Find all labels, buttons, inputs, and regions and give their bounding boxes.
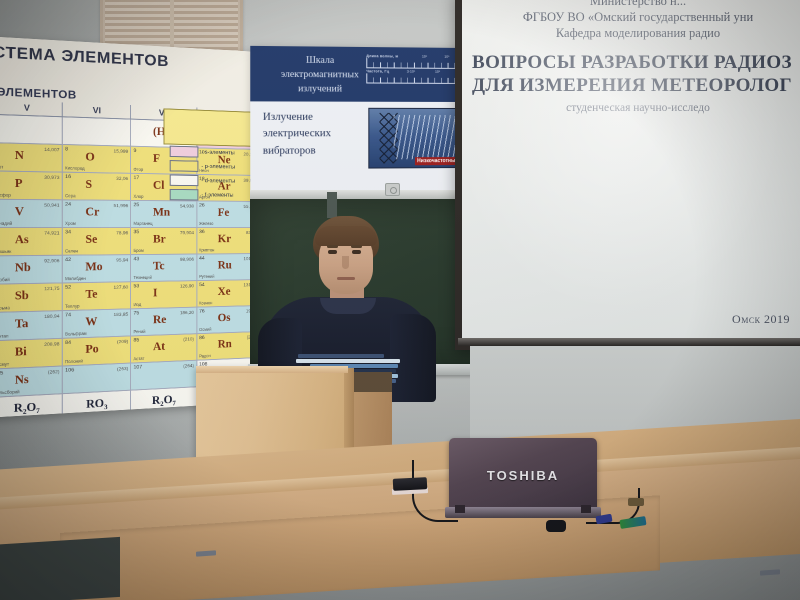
periodic-cell-3-4: 2554,938MnМарганец — [131, 201, 197, 228]
poster-header-band: Шкала электромагнитных излучений Длина в… — [250, 46, 465, 102]
sweater-stripe-1 — [296, 359, 400, 363]
element-name: Астат — [133, 356, 144, 362]
atomic-mass: 14,007 — [44, 147, 59, 153]
element-name: Молибден — [65, 276, 86, 282]
element-name: Мышьяк — [0, 249, 11, 255]
atomic-mass: 54,938 — [180, 203, 194, 208]
wall-socket-icon[interactable] — [385, 183, 400, 196]
element-name: Криптон — [199, 247, 214, 252]
atomic-mass: 121,75 — [44, 286, 59, 292]
atomic-number: 43 — [133, 256, 139, 262]
atomic-mass: 186,20 — [180, 310, 194, 316]
periodic-cell-6-4: 53126,90IИод — [131, 281, 197, 309]
periodic-group-header-2: V — [0, 100, 63, 117]
power-wires — [394, 115, 460, 159]
element-symbol: Po — [85, 343, 98, 356]
atomic-mass: 126,90 — [180, 283, 194, 288]
atomic-mass: 50,941 — [44, 202, 59, 207]
speaker-eye-right — [352, 250, 361, 254]
element-symbol: F — [153, 152, 160, 165]
periodic-cell-7-4: 75186,20ReРений — [131, 308, 197, 337]
legend-entry-3: - f-элементы — [170, 189, 254, 201]
black-device[interactable] — [393, 477, 428, 491]
atomic-number: 44 — [199, 256, 205, 262]
element-name: Хром — [65, 221, 76, 226]
dark-object-on-desk[interactable] — [546, 520, 566, 532]
atomic-number: 36 — [199, 229, 205, 235]
projection-screen-bottom-bar — [458, 338, 800, 346]
projector-glow — [462, 0, 800, 340]
em-axis1-tick-0: 10⁴ — [422, 55, 427, 59]
laptop-base — [445, 507, 601, 518]
element-symbol: Mn — [153, 206, 170, 218]
element-name: Ксенон — [199, 300, 212, 305]
atomic-number: 84 — [65, 340, 71, 347]
element-symbol: Tc — [153, 260, 165, 273]
atomic-number: 86 — [199, 335, 205, 341]
legend-label-1: - p-элементы — [201, 163, 235, 170]
atomic-mass: 79,904 — [180, 230, 194, 235]
em-photo-caption: Низкочастотные — [415, 157, 460, 165]
speaker-eyebrow-right — [351, 245, 362, 248]
small-object-on-desk[interactable] — [628, 498, 644, 506]
element-symbol: Ru — [218, 259, 232, 271]
atomic-number: 24 — [65, 201, 71, 207]
atomic-mass: (264) — [183, 363, 194, 369]
atomic-number: 105 — [0, 370, 3, 377]
element-symbol: N — [15, 149, 24, 162]
periodic-cell-2-2: 1530,973PФосфор — [0, 171, 63, 200]
atomic-number: 76 — [199, 308, 205, 314]
periodic-cell-5-4: 4398,906TcТехнеций — [131, 255, 197, 283]
atomic-mass: 180,94 — [44, 313, 59, 319]
atomic-mass: 15,999 — [113, 148, 128, 154]
element-symbol: As — [15, 233, 29, 246]
element-name: Бром — [133, 248, 143, 253]
atomic-mass: 127,60 — [113, 284, 128, 290]
periodic-cell-4-4: 3579,904BrБром — [131, 228, 197, 255]
periodic-cell-2-3: 1632,06SСера — [63, 173, 132, 201]
atomic-number: 9 — [133, 148, 136, 154]
legend-entry-0: - s-элементы — [170, 146, 254, 159]
lecture-hall-photo: ДИЧЕСКАЯ СИСТЕМА ЭЛЕМЕНТОВ ЕНДЕЛЕЕВА УПП… — [0, 0, 800, 600]
atomic-mass: 92,906 — [44, 258, 59, 264]
atomic-number: 42 — [65, 257, 71, 263]
element-name: Полоний — [65, 358, 83, 364]
legend-label-0: - s-элементы — [201, 149, 234, 156]
speaker-eye-left — [328, 250, 337, 254]
element-symbol: Rn — [218, 338, 232, 351]
element-name: Хлор — [133, 194, 143, 199]
periodic-cell-5-2: 4192,906NbНиобий — [0, 256, 63, 285]
periodic-cell-7-2: 73180,94TaТантал — [0, 311, 63, 341]
legend-label-3: - f-элементы — [201, 192, 233, 198]
element-symbol: Bi — [15, 345, 27, 358]
em-body-text: Излучение электрических вибраторов — [263, 110, 362, 160]
atomic-mass: 183,85 — [113, 312, 128, 318]
atomic-mass: 98,906 — [180, 257, 194, 262]
em-heading-line3: излучений — [273, 83, 366, 97]
element-name: Фтор — [133, 167, 143, 172]
em-axis1-tick-1: 10⁶ — [444, 55, 449, 59]
element-name: Иод — [133, 302, 141, 307]
element-symbol: Sb — [15, 289, 29, 302]
speaker-nose — [342, 256, 349, 269]
legend-swatch-2 — [170, 174, 199, 186]
em-heading-line1: Шкала — [273, 54, 366, 69]
speaker-collar — [320, 298, 376, 314]
element-name: Ниобий — [0, 277, 10, 283]
power-line-photo: Низкочастотные — [368, 108, 461, 169]
element-name: Рутений — [199, 274, 214, 279]
laptop-brand-logo: TOSHIBA — [481, 468, 565, 483]
periodic-cell-4-3: 3478,96SeСелен — [63, 228, 132, 256]
element-symbol: V — [15, 205, 24, 218]
periodic-cell-5-3: 4295,94MoМолибден — [63, 255, 132, 283]
element-name: Фосфор — [0, 192, 11, 198]
atomic-number: 34 — [65, 229, 71, 235]
periodic-group-header-3: VI — [63, 102, 132, 118]
atomic-number: 85 — [133, 337, 139, 343]
element-name: Осмий — [199, 327, 211, 333]
element-symbol: Cl — [153, 179, 164, 192]
element-name: Кислород — [65, 165, 85, 171]
periodic-cell-8-3: 84(209)PoПолоний — [63, 336, 132, 366]
element-symbol: Ns — [15, 373, 29, 387]
legend-entry-2: - d-элементы — [170, 174, 254, 186]
speaker-hair-fringe — [315, 226, 377, 246]
periodic-cell-9-2: 105(262)NsНильсборий — [0, 367, 63, 398]
atomic-mass: 32,06 — [116, 176, 128, 181]
atomic-number: 75 — [133, 310, 139, 316]
laptop[interactable]: TOSHIBA — [449, 438, 597, 518]
em-axis1: 10⁴ 10⁶ — [366, 58, 461, 69]
atomic-mass: 74,921 — [44, 230, 59, 235]
atomic-number: 107 — [133, 364, 142, 371]
atomic-mass: (262) — [48, 369, 60, 375]
element-symbol: W — [85, 316, 97, 329]
legend-swatch-0 — [170, 146, 199, 158]
em-axis2-tick-0: 3·10⁴ — [407, 70, 415, 74]
periodic-legend: - s-элементы- p-элементы- d-элементы- f-… — [170, 146, 254, 204]
periodic-row: 3169,72GaГаллий3272,59GeГерманий3374,921… — [0, 228, 260, 258]
periodic-cell-7-3: 74183,85WВольфрам — [63, 309, 132, 338]
atomic-number: 53 — [133, 283, 139, 289]
atomic-mass: 78,96 — [116, 230, 128, 235]
element-symbol: P — [15, 177, 23, 190]
atomic-number: 52 — [65, 284, 71, 290]
legend-entry-1: - p-элементы — [170, 160, 254, 173]
element-name: Тантал — [0, 333, 9, 339]
em-body-line1: Излучение — [263, 110, 362, 127]
element-symbol: Fe — [218, 207, 230, 219]
atomic-number: 17 — [133, 175, 139, 181]
speaker-mouth — [337, 277, 355, 280]
periodic-key-box — [163, 108, 252, 146]
element-symbol: Ta — [15, 317, 28, 330]
element-name: Технеций — [133, 275, 151, 280]
element-name: Вольфрам — [65, 331, 87, 337]
element-symbol: Xe — [218, 286, 231, 298]
element-symbol: S — [85, 178, 92, 191]
element-symbol: I — [153, 287, 157, 300]
atomic-mass: (263) — [117, 366, 128, 372]
element-name: Радон — [199, 353, 211, 359]
element-name: Азот — [0, 164, 3, 170]
periodic-cell-0-2 — [0, 115, 63, 145]
periodic-cell-9-3: 106(263) — [63, 364, 132, 395]
em-heading-line2: электромагнитных — [273, 68, 366, 83]
atomic-number: 74 — [65, 312, 71, 319]
element-symbol: Br — [153, 233, 166, 245]
em-heading: Шкала электромагнитных излучений — [273, 54, 366, 97]
sweater-stripe-0 — [298, 354, 384, 358]
element-name: Селен — [65, 248, 78, 253]
periodic-cell-8-2: 83208,98BiВисмут — [0, 339, 63, 370]
periodic-cell-0-3 — [63, 117, 132, 146]
element-symbol: Mo — [85, 261, 102, 274]
floor-shadow — [0, 537, 120, 600]
em-body-line3: вибраторов — [263, 143, 362, 160]
atomic-number: 106 — [65, 367, 74, 374]
element-symbol: O — [85, 151, 94, 164]
element-symbol: Cr — [85, 206, 99, 219]
atomic-mass: 51,996 — [113, 203, 128, 208]
podium-shelf — [354, 372, 392, 392]
element-name: Рений — [133, 329, 145, 335]
legend-swatch-1 — [170, 160, 199, 172]
element-symbol: Re — [153, 314, 166, 327]
element-name: Ванадий — [0, 220, 12, 225]
atomic-mass: 95,94 — [116, 257, 128, 262]
element-name: Висмут — [0, 361, 9, 367]
periodic-cell-1-3: 815,999OКислород — [63, 145, 132, 174]
element-name: Железо — [199, 221, 213, 226]
periodic-cell-1-2: 714,007NАзот — [0, 143, 63, 173]
em-spectrum-poster: Шкала электромагнитных излучений Длина в… — [250, 46, 465, 202]
atomic-number: 8 — [65, 146, 68, 152]
atomic-number: 35 — [133, 229, 139, 235]
atomic-number: 16 — [65, 174, 71, 180]
periodic-cell-4-2: 3374,921AsМышьяк — [0, 228, 63, 256]
periodic-cell-6-3: 52127,60TeТеллур — [63, 282, 132, 311]
periodic-cell-3-2: 2350,941VВанадий — [0, 200, 63, 228]
laptop-lid: TOSHIBA — [449, 438, 597, 510]
atomic-mass: 30,973 — [44, 175, 59, 181]
atomic-mass: 208,98 — [44, 341, 59, 347]
podium-top — [196, 366, 348, 373]
em-axis2-tick-1: 10⁶ — [435, 70, 440, 74]
legend-swatch-3 — [170, 189, 199, 201]
atomic-number: 25 — [133, 202, 139, 208]
element-symbol: Se — [85, 233, 97, 246]
periodic-cell-8-4: 85(210)AtАстат — [131, 334, 197, 363]
element-name: Марганец — [133, 221, 152, 226]
periodic-cell-9-4: 107(264) — [131, 361, 197, 391]
atomic-mass: (209) — [117, 339, 128, 345]
em-scale-diagram: Длина волны, м 10⁴ 10⁶ Частота, Гц 3·10⁴… — [366, 54, 461, 97]
element-symbol: Te — [85, 288, 97, 301]
legend-label-2: - d-элементы — [201, 178, 235, 185]
element-name: Сурьма — [0, 305, 10, 311]
element-symbol: Nb — [15, 261, 31, 274]
element-symbol: At — [153, 340, 165, 353]
em-axis2: 3·10⁴ 10⁶ — [366, 73, 461, 84]
atomic-mass: (210) — [183, 336, 194, 342]
atomic-number: 54 — [199, 282, 205, 288]
element-symbol: Kr — [218, 233, 231, 245]
em-body-line2: электрических — [263, 126, 362, 143]
element-symbol: Os — [218, 312, 231, 325]
speaker-eyebrow-left — [327, 245, 338, 248]
periodic-cell-6-2: 51121,75SbСурьма — [0, 283, 63, 313]
periodic-cell-3-3: 2451,996CrХром — [63, 200, 132, 228]
element-name: Теллур — [65, 303, 79, 309]
element-name: Сера — [65, 193, 76, 198]
element-name: Нильсборий — [0, 389, 20, 396]
